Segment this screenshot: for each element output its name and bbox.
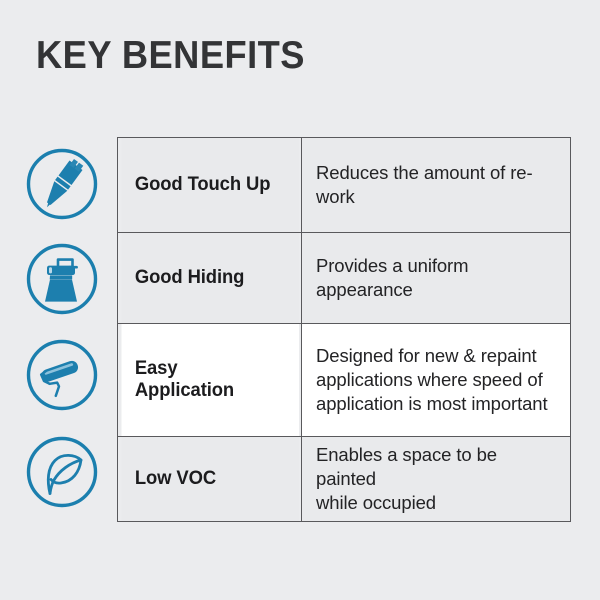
table-row: Easy Application Designed for new & repa…	[118, 324, 571, 437]
leaf-icon	[25, 435, 99, 509]
benefit-icon-2	[24, 241, 100, 317]
table-row: Good Touch Up Reduces the amount of re-w…	[118, 138, 571, 233]
table-row: Low VOC Enables a space to be painted wh…	[118, 437, 571, 522]
benefit-description-line: Provides a uniform appearance	[316, 254, 556, 302]
benefit-description-line: application is most important	[316, 392, 556, 416]
benefit-term-cell: Good Touch Up	[120, 138, 298, 233]
benefit-icon-column	[24, 137, 102, 521]
benefit-icon-1	[24, 146, 100, 222]
paint-brush-icon	[25, 147, 99, 221]
benefit-description-line: Reduces the amount of re-work	[316, 161, 556, 209]
benefit-description-cell: Enables a space to be painted while occu…	[302, 437, 571, 522]
angled-paint-roller-icon	[25, 338, 99, 412]
page-title: KEY BENEFITS	[36, 36, 305, 77]
benefit-term-line: Good Hiding	[134, 267, 284, 289]
paint-roller-coverage-icon	[25, 242, 99, 316]
table-row: Good Hiding Provides a uniform appearanc…	[118, 233, 571, 324]
benefit-icon-3	[24, 337, 100, 413]
benefit-description-cell: Designed for new & repaint applications …	[302, 324, 571, 437]
benefit-term-line: Application	[134, 380, 284, 402]
benefit-description-cell: Provides a uniform appearance	[302, 233, 571, 324]
benefit-description-cell: Reduces the amount of re-work	[302, 138, 571, 233]
benefit-term-cell: Easy Application	[120, 324, 298, 437]
benefit-term-cell: Low VOC	[120, 437, 298, 522]
benefits-table: Good Touch Up Reduces the amount of re-w…	[117, 137, 571, 522]
benefit-term-cell: Good Hiding	[120, 233, 298, 324]
key-benefits-infographic: KEY BENEFITS	[0, 0, 600, 600]
benefit-description-line: while occupied	[316, 491, 556, 515]
benefit-term-line: Easy	[134, 358, 284, 380]
benefit-description-line: applications where speed of	[316, 368, 556, 392]
benefit-term-line: Low VOC	[134, 468, 284, 490]
benefit-term-line: Good Touch Up	[134, 174, 284, 196]
benefit-description-line: Designed for new & repaint	[316, 344, 556, 368]
benefit-icon-4	[24, 434, 100, 510]
benefit-description-line: Enables a space to be painted	[316, 443, 556, 491]
